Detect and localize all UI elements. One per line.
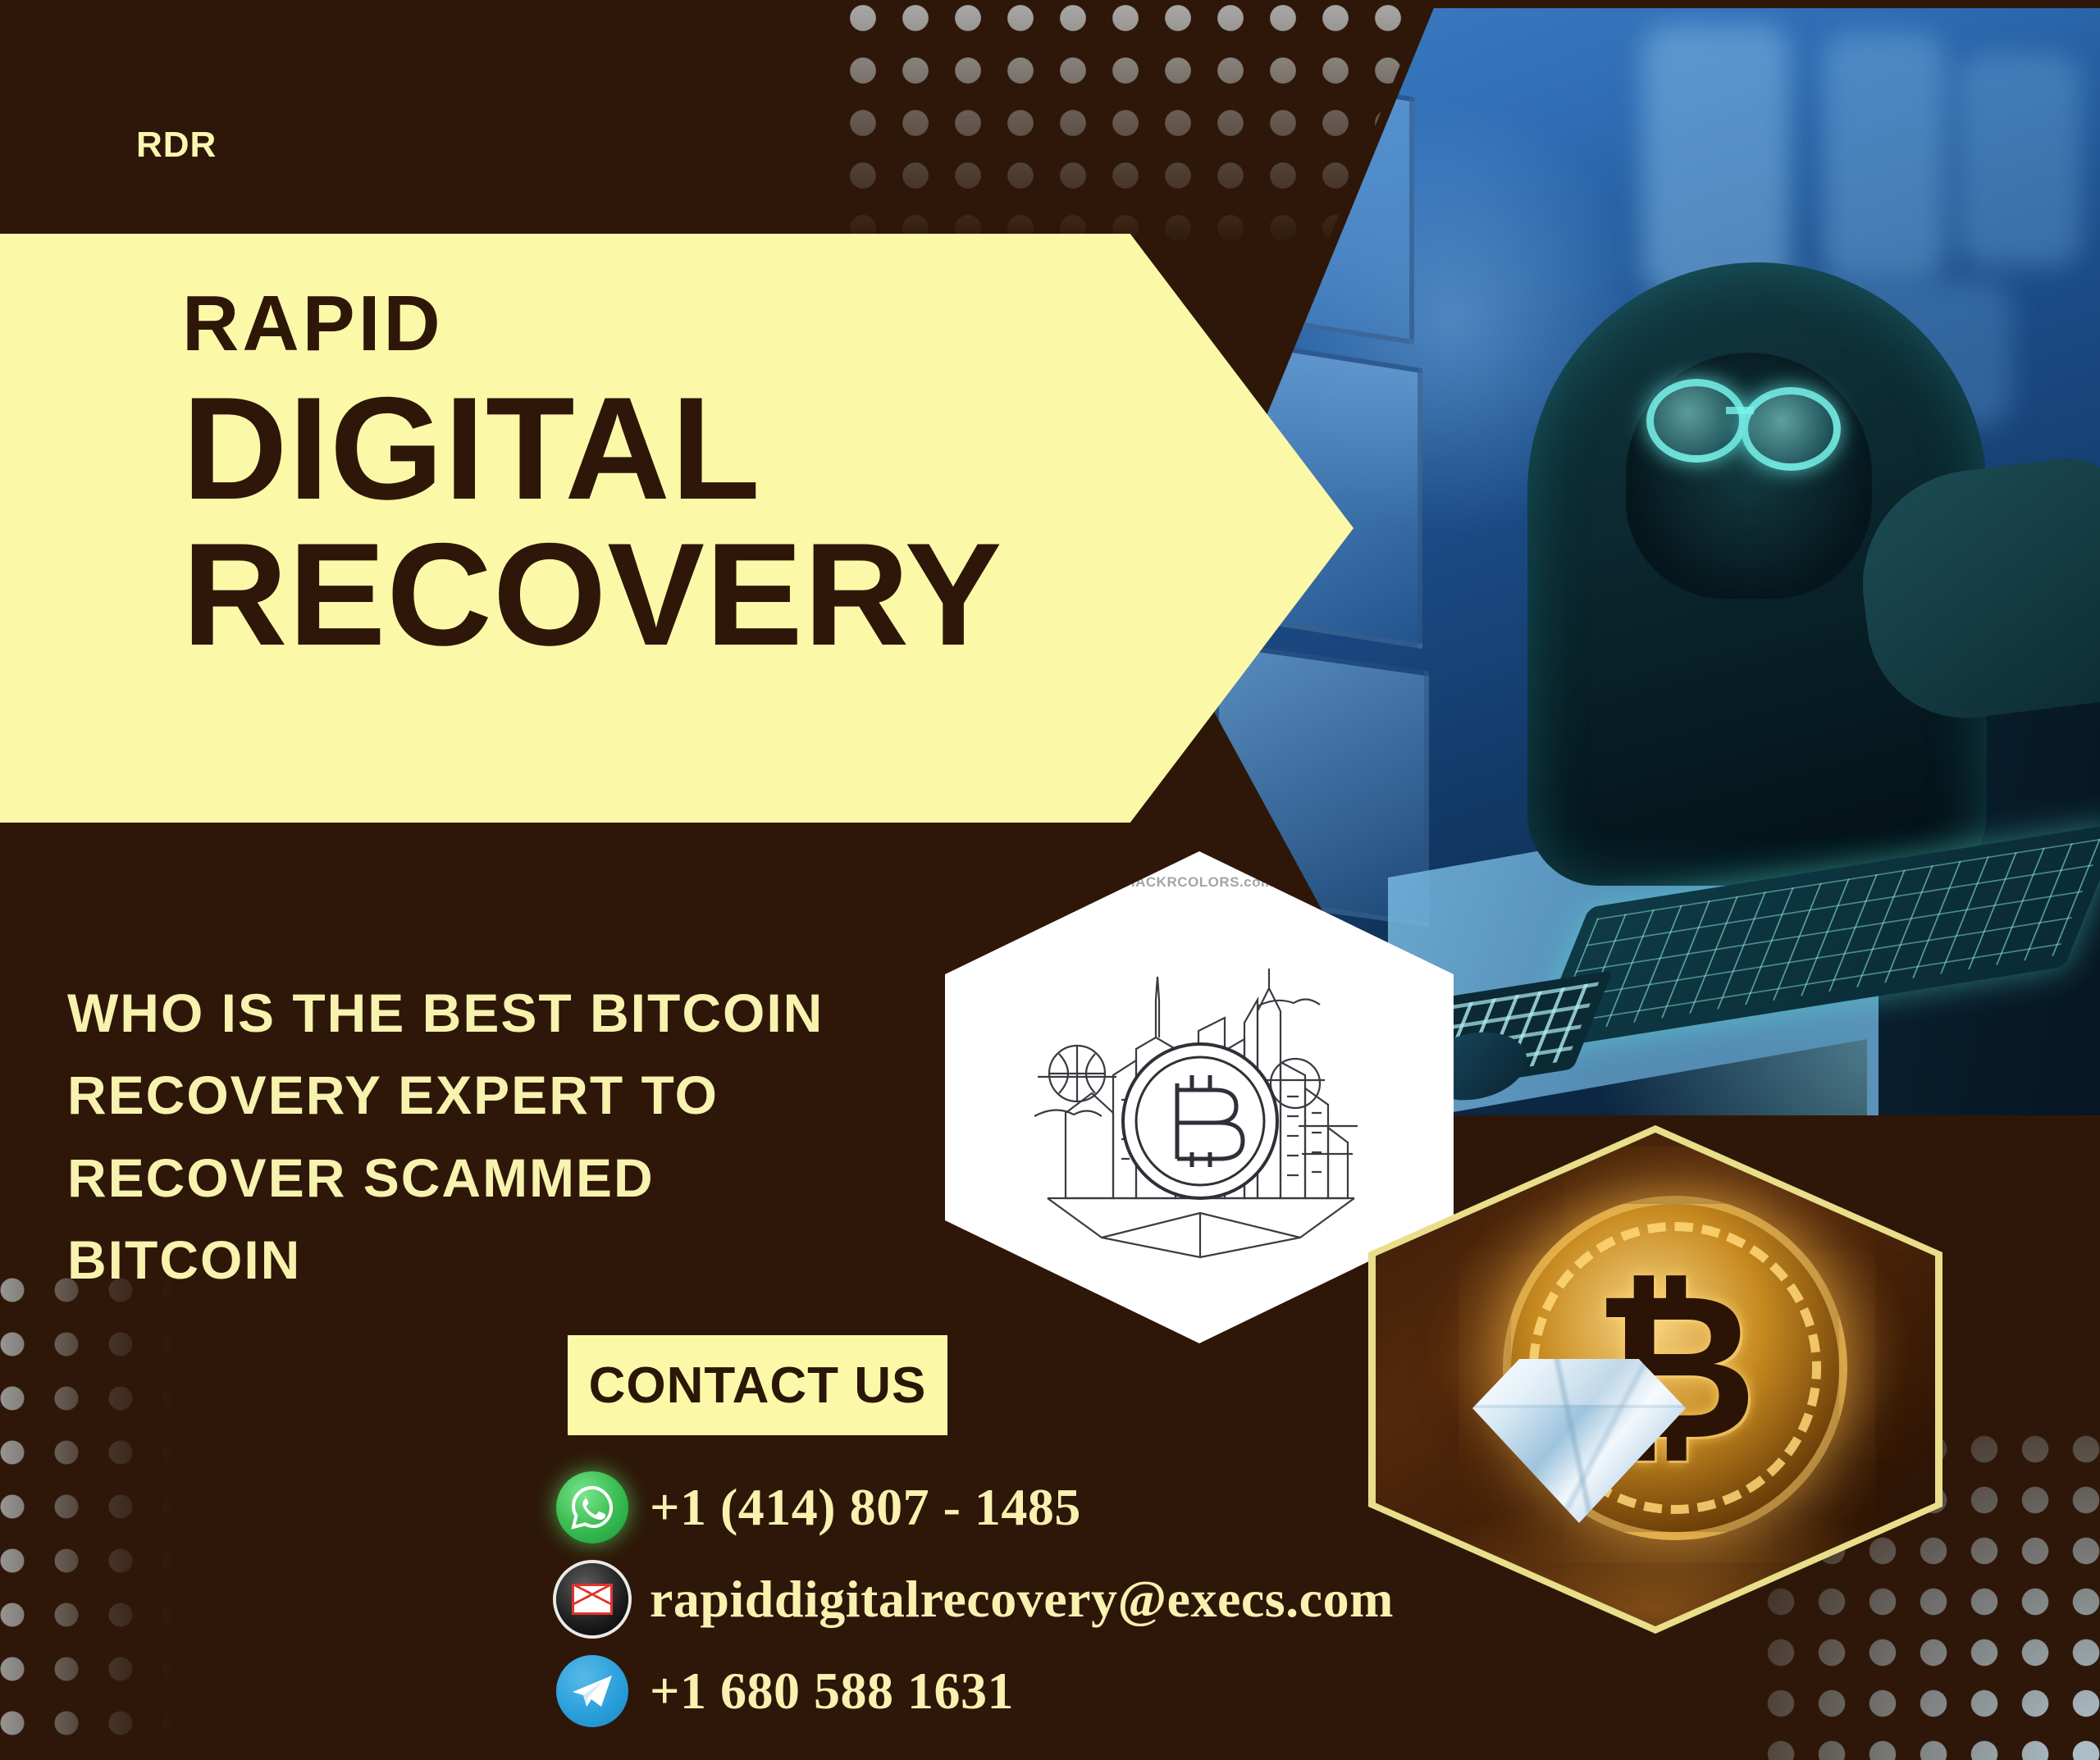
bitcoin-diamond-image: ₿ <box>1376 1133 1935 1626</box>
goggle-bridge <box>1726 407 1754 414</box>
halftone-dots-top <box>837 0 1411 262</box>
photo-background-shape <box>1823 33 1946 279</box>
telegram-icon[interactable] <box>556 1655 628 1727</box>
contact-row-whatsapp[interactable]: +1 (414) 807 - 1485 <box>556 1461 1394 1553</box>
whatsapp-number[interactable]: +1 (414) 807 - 1485 <box>650 1477 1081 1538</box>
window-pane <box>1224 67 1414 345</box>
email-address[interactable]: rapiddigitalrecovery@execs.com <box>650 1569 1394 1630</box>
contact-row-telegram[interactable]: +1 680 588 1631 <box>556 1645 1394 1737</box>
envelope-glyph <box>572 1584 613 1615</box>
goggle-lens-icon <box>1741 387 1841 471</box>
photo-background-shape <box>1958 53 2081 267</box>
contact-list: +1 (414) 807 - 1485 rapiddigitalrecovery… <box>556 1461 1394 1737</box>
contact-us-label: CONTACT US <box>589 1356 927 1415</box>
headline: WHO IS THE BEST BITCOIN RECOVERY EXPERT … <box>67 972 978 1301</box>
whatsapp-glyph <box>571 1485 614 1530</box>
telegram-number[interactable]: +1 680 588 1631 <box>650 1661 1014 1721</box>
paper-plane-glyph <box>570 1673 614 1711</box>
bitcoin-diamond-hexagon: ₿ <box>1368 1125 1942 1634</box>
halftone-dots-left <box>0 1263 174 1755</box>
title-line-recovery: RECOVERY <box>182 523 1002 666</box>
city-skyline-icon <box>1023 952 1376 1264</box>
headline-line-4: BITCOIN <box>67 1219 978 1301</box>
contact-us-badge: CONTACT US <box>568 1335 947 1435</box>
headline-line-3: RECOVER SCAMMED <box>67 1137 978 1219</box>
title-block: RAPID DIGITAL RECOVERY <box>182 283 1002 667</box>
photo-background-shape <box>1642 25 1790 295</box>
headline-line-2: RECOVERY EXPERT TO <box>67 1054 978 1136</box>
goggle-lens-icon <box>1646 379 1746 463</box>
brand-logo: RDR <box>136 125 217 166</box>
headline-line-1: WHO IS THE BEST BITCOIN <box>67 972 978 1054</box>
whatsapp-icon[interactable] <box>556 1471 628 1543</box>
title-line-rapid: RAPID <box>182 283 1002 366</box>
email-icon[interactable] <box>556 1563 628 1635</box>
promo-poster: RDR RAPID DIGITAL RECOVERY WHO IS THE BE… <box>0 0 2100 1760</box>
title-line-digital: DIGITAL <box>182 377 1002 520</box>
contact-row-email[interactable]: rapiddigitalrecovery@execs.com <box>556 1553 1394 1645</box>
